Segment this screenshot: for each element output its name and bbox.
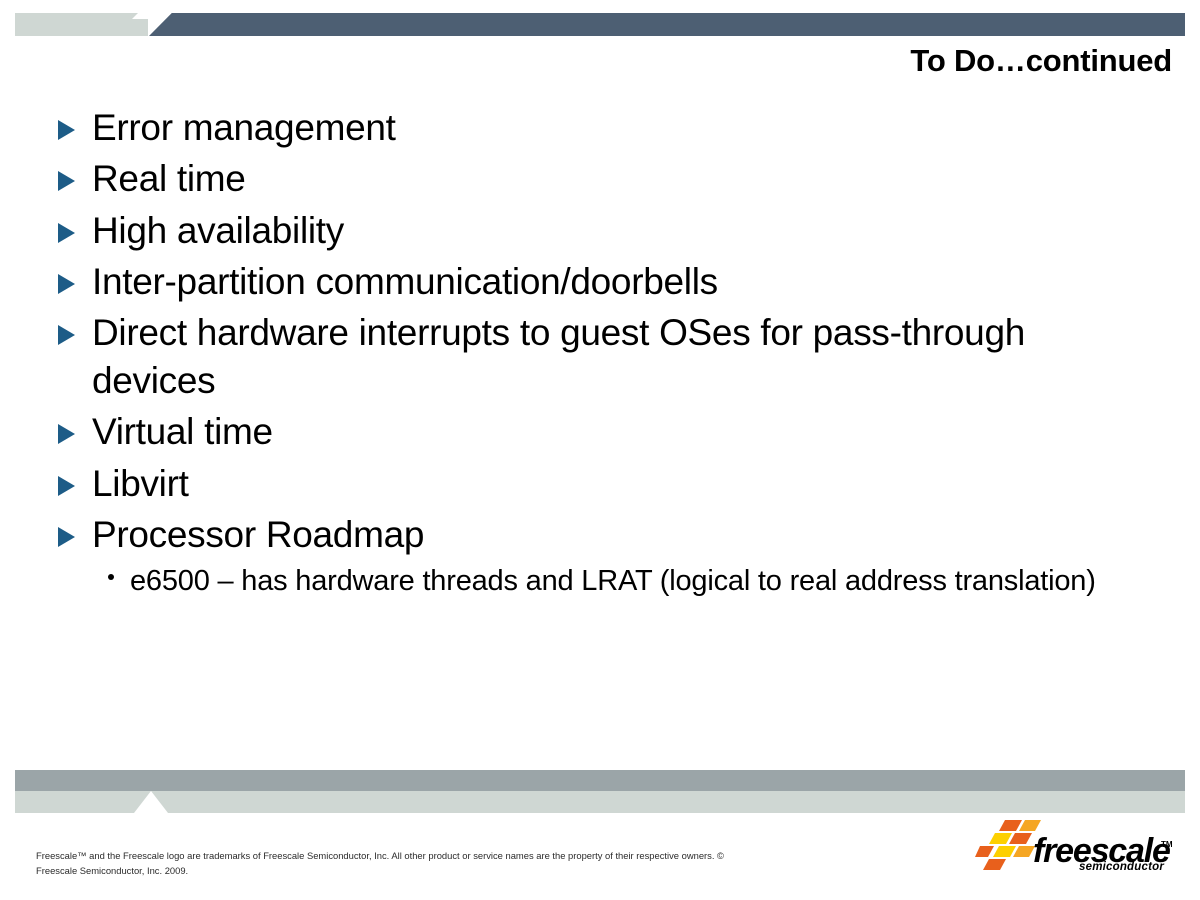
list-item-label: Real time xyxy=(92,155,246,202)
list-item-label: Processor Roadmap xyxy=(92,511,424,558)
triangle-bullet-icon xyxy=(58,511,92,547)
sub-list-item-label: e6500 – has hardware threads and LRAT (l… xyxy=(130,562,1096,601)
triangle-bullet-icon xyxy=(58,258,92,294)
list-item: High availability xyxy=(58,207,1158,254)
list-item-label: Error management xyxy=(92,104,396,151)
list-item-label: Virtual time xyxy=(92,408,273,455)
list-item: Libvirt xyxy=(58,460,1158,507)
footer-legal-text: Freescale™ and the Freescale logo are tr… xyxy=(36,849,756,878)
list-item-label: High availability xyxy=(92,207,344,254)
list-item: Error management xyxy=(58,104,1158,151)
triangle-bullet-icon xyxy=(58,207,92,243)
freescale-tagline: semiconductor xyxy=(1079,862,1164,874)
triangle-bullet-icon xyxy=(58,408,92,444)
triangle-bullet-icon xyxy=(58,104,92,140)
list-item: Real time xyxy=(58,155,1158,202)
slide-canvas: To Do…continued Error management Real ti… xyxy=(0,0,1200,900)
bottom-bar-dark-segment xyxy=(15,770,1185,791)
dot-bullet-icon xyxy=(100,562,130,580)
sub-list-item: e6500 – has hardware threads and LRAT (l… xyxy=(100,562,1158,601)
list-item-label: Libvirt xyxy=(92,460,189,507)
list-item-label: Inter-partition communication/doorbells xyxy=(92,258,718,305)
slide-title: To Do…continued xyxy=(910,43,1172,79)
list-item: Virtual time xyxy=(58,408,1158,455)
triangle-bullet-icon xyxy=(58,460,92,496)
trademark-symbol: TM xyxy=(1161,840,1173,849)
list-item: Inter-partition communication/doorbells xyxy=(58,258,1158,305)
triangle-bullet-icon xyxy=(58,309,92,345)
list-item: Direct hardware interrupts to guest OSes… xyxy=(58,309,1158,404)
top-bar-dark-segment xyxy=(149,13,1185,36)
list-item: Processor Roadmap xyxy=(58,511,1158,558)
bottom-bar-light-segment xyxy=(15,791,1185,813)
freescale-logo: freescale semiconductor TM xyxy=(975,818,1185,880)
slide-body: Error management Real time High availabi… xyxy=(58,104,1158,601)
triangle-bullet-icon xyxy=(58,155,92,191)
list-item-label: Direct hardware interrupts to guest OSes… xyxy=(92,309,1158,404)
